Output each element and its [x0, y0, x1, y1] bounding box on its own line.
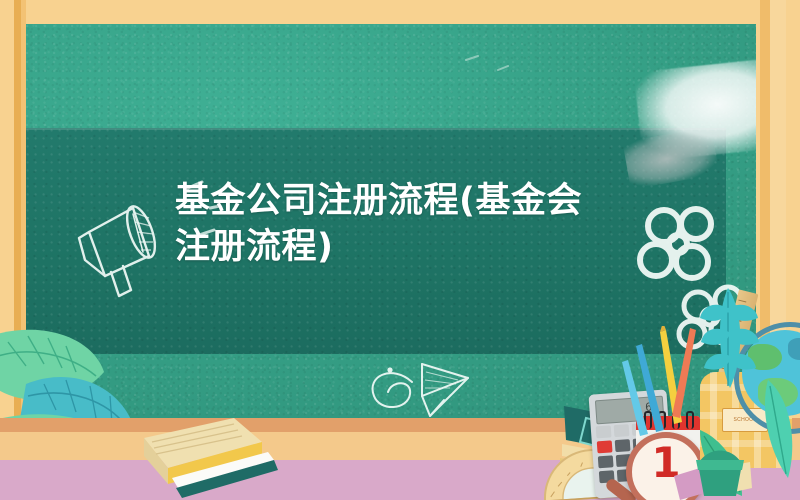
- potted-plant: [690, 440, 750, 500]
- chalkboard-panel-highlight: [26, 128, 726, 130]
- calculator-key[interactable]: [598, 455, 614, 468]
- calculator-key[interactable]: [596, 425, 612, 438]
- banner-image: 基金公司注册流程(基金会 注册流程): [0, 0, 800, 500]
- stacked-books-left: [138, 398, 338, 500]
- calculator-key-ac[interactable]: [597, 440, 613, 453]
- page-title: 基金公司注册流程(基金会 注册流程): [175, 178, 675, 270]
- calculator-key[interactable]: [614, 439, 630, 452]
- chalk-megaphone-icon: [71, 184, 181, 304]
